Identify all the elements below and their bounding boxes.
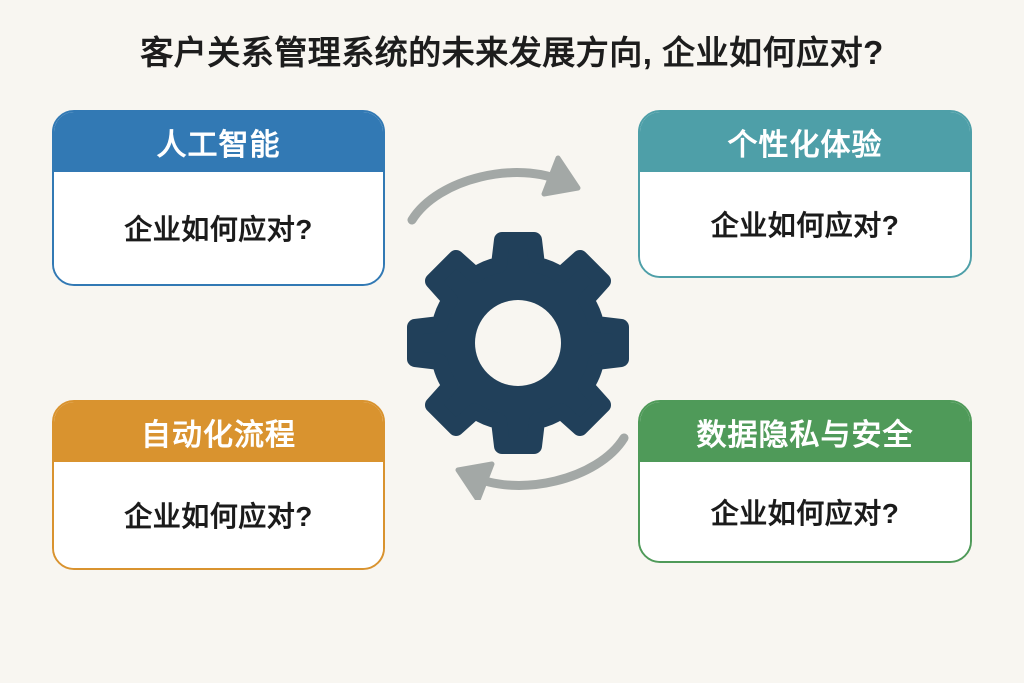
page-title: 客户关系管理系统的未来发展方向, 企业如何应对?	[0, 26, 1024, 74]
card-body-automated-process: 企业如何应对?	[54, 462, 383, 568]
infographic-canvas: 客户关系管理系统的未来发展方向, 企业如何应对? 人工智能 企业如何应对? 个性…	[0, 0, 1024, 683]
card-body-data-privacy-security: 企业如何应对?	[640, 462, 970, 561]
card-automated-process[interactable]: 自动化流程 企业如何应对?	[52, 400, 385, 570]
card-body-artificial-intelligence: 企业如何应对?	[54, 172, 383, 284]
card-body-personalized-experience: 企业如何应对?	[640, 172, 970, 276]
card-personalized-experience[interactable]: 个性化体验 企业如何应对?	[638, 110, 972, 278]
center-cycle-group	[398, 150, 638, 500]
card-artificial-intelligence[interactable]: 人工智能 企业如何应对?	[52, 110, 385, 286]
card-header-data-privacy-security: 数据隐私与安全	[640, 402, 970, 462]
card-header-personalized-experience: 个性化体验	[640, 112, 970, 172]
top-clockwise-arrow	[412, 158, 578, 220]
card-header-automated-process: 自动化流程	[54, 402, 383, 462]
card-data-privacy-security[interactable]: 数据隐私与安全 企业如何应对?	[638, 400, 972, 563]
card-header-artificial-intelligence: 人工智能	[54, 112, 383, 172]
gear-icon	[415, 240, 621, 446]
